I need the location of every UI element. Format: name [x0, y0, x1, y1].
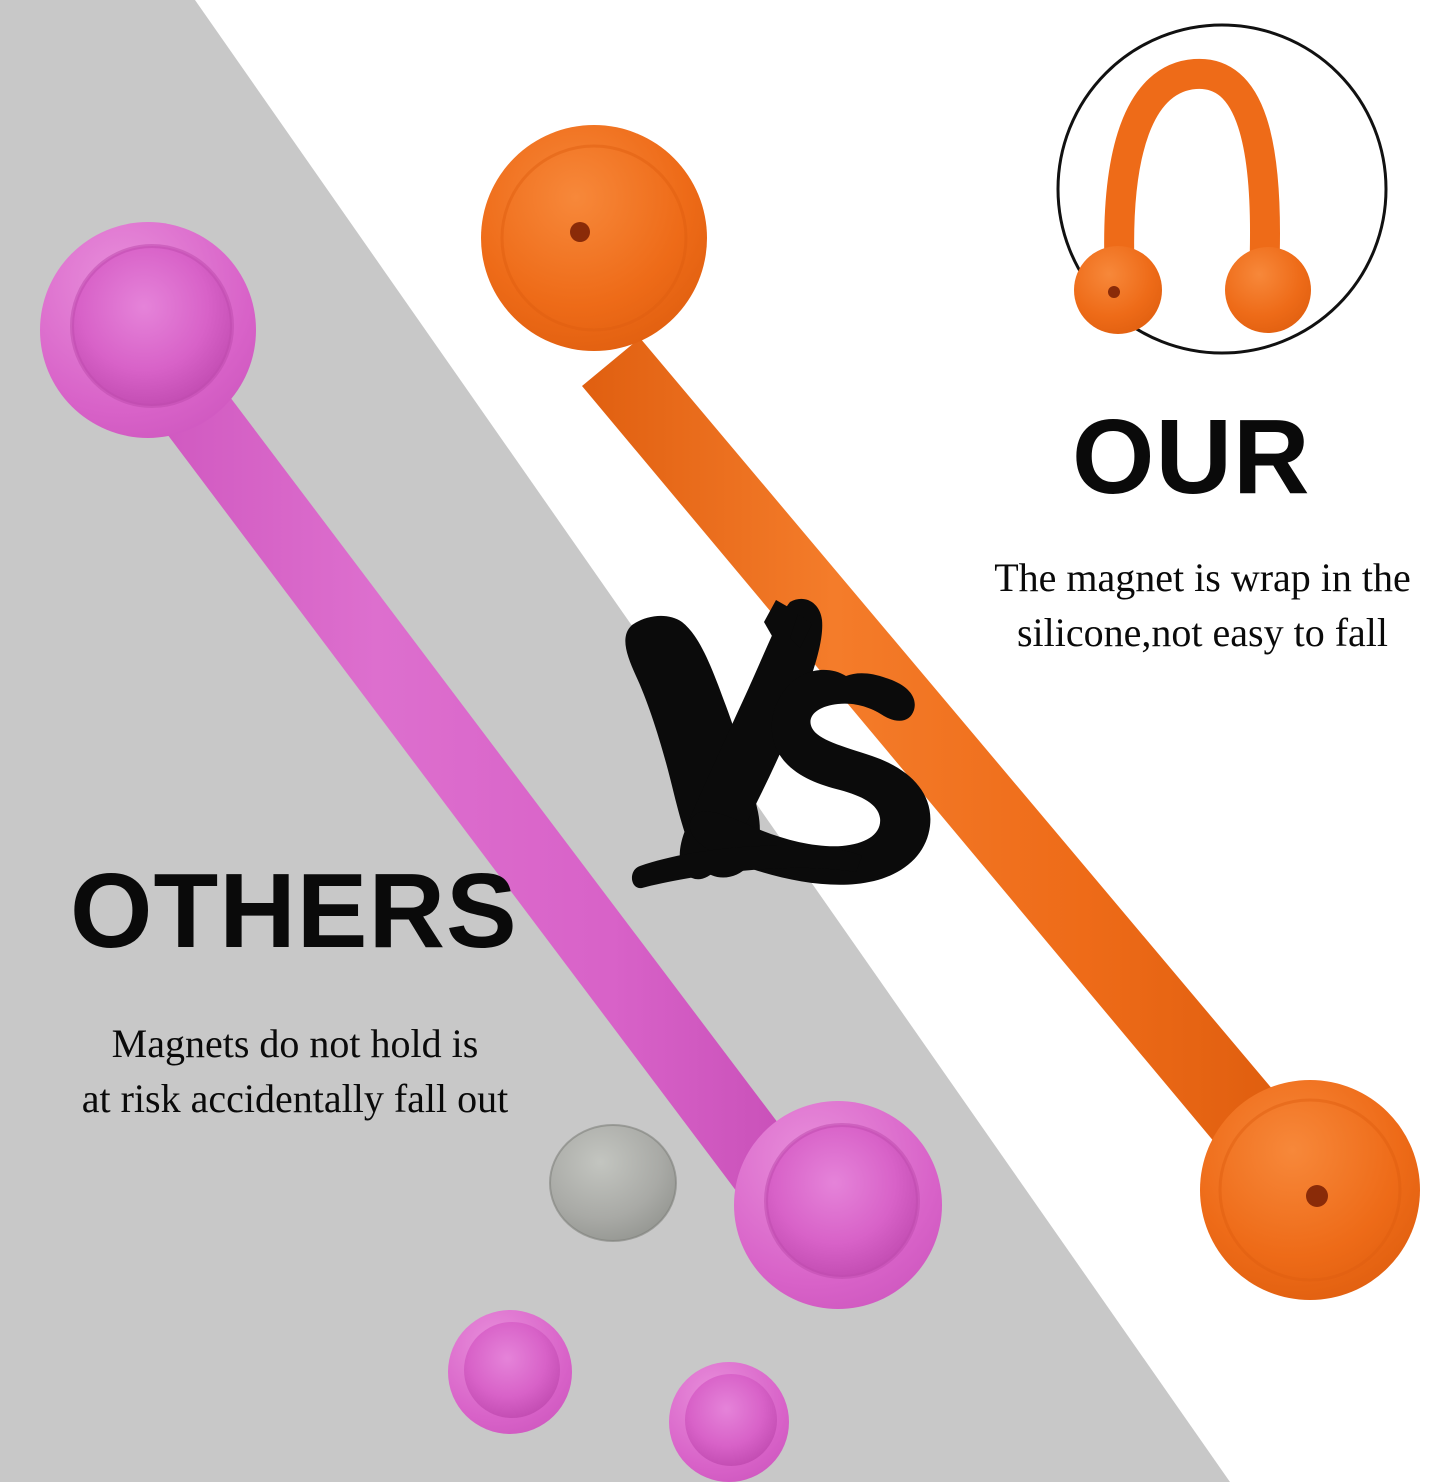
our-caption-line2: silicone,not easy to fall	[1017, 610, 1388, 655]
others-caption-line2: at risk accidentally fall out	[82, 1076, 509, 1121]
product-comparison-image: OTHERS Magnets do not hold isat risk acc…	[0, 0, 1445, 1482]
our-heading: OUR	[1072, 404, 1311, 510]
others-caption: Magnets do not hold isat risk accidental…	[0, 1016, 590, 1126]
our-caption-line1: The magnet is wrap in the	[994, 555, 1411, 600]
vs-brush-strokes	[625, 599, 930, 888]
versus-graphic	[0, 0, 1445, 1482]
our-caption: The magnet is wrap in thesilicone,not ea…	[960, 550, 1445, 660]
others-caption-line1: Magnets do not hold is	[112, 1021, 479, 1066]
others-heading: OTHERS	[70, 858, 518, 964]
